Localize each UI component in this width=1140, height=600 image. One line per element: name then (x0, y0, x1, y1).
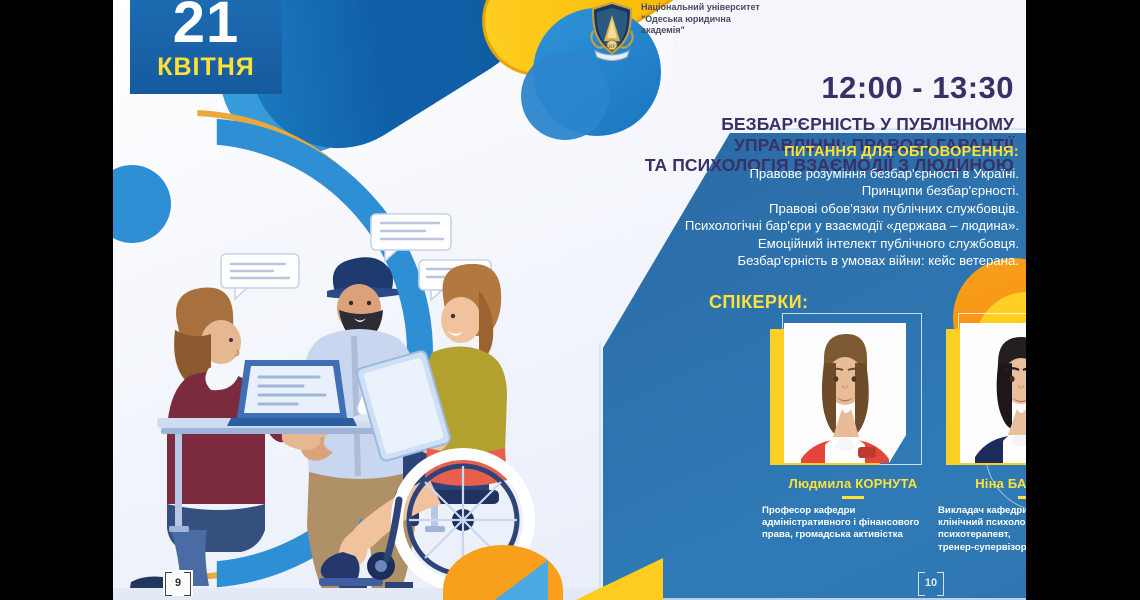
inclusive-meeting-illustration (113, 190, 673, 600)
date-day: 21 (130, 0, 282, 52)
speaker-bio: Викладач кафедри психології, клінічний п… (934, 505, 1026, 555)
page-bracket-icon (165, 572, 191, 594)
speaker-name: Людмила КОРНУТА (758, 476, 948, 491)
date-month: КВІТНЯ (130, 52, 282, 82)
presentation-slide: 21 КВІТНЯ НУ (113, 0, 1026, 600)
speaker-name: Ніна БАКУРІДЗЕ (934, 476, 1026, 491)
speakers-heading: СПІКЕРКИ: (709, 292, 808, 313)
page-bracket-icon (918, 572, 944, 594)
university-name: Національний університет "Одеська юридич… (641, 1, 760, 37)
speaker-card: Людмила КОРНУТА Професор кафедри адмініс… (758, 320, 948, 542)
page-number-right: 10 (916, 570, 946, 596)
speaker-photo-frame (758, 320, 948, 472)
discussion-questions: ПИТАННЯ ДЛЯ ОБГОВОРЕННЯ: Правове розумін… (613, 144, 1026, 269)
speaker-portrait-icon (784, 323, 906, 463)
page-number-left: 9 (163, 570, 193, 596)
speaker-name-divider (842, 496, 864, 499)
event-time: 12:00 - 13:30 (583, 70, 1026, 106)
letterbox-bar-right (1026, 0, 1140, 600)
university-identity: НУ Національний університет "Одеська юри… (583, 0, 1026, 68)
speaker-portrait-icon (960, 323, 1026, 463)
letterbox-bar-left (0, 0, 113, 600)
speaker-card: Ніна БАКУРІДЗЕ Викладач кафедри психолог… (934, 320, 1026, 554)
discussion-questions-heading: ПИТАННЯ ДЛЯ ОБГОВОРЕННЯ: (613, 144, 1019, 160)
speaker-bio: Професор кафедри адміністративного і фін… (758, 505, 948, 542)
svg-text:НУ: НУ (608, 45, 616, 50)
speaker-name-divider (1018, 496, 1026, 499)
speaker-photo-frame (934, 320, 1026, 472)
university-coat-of-arms-icon: НУ (589, 1, 635, 68)
date-badge: 21 КВІТНЯ (130, 0, 282, 94)
slide-viewer: 21 КВІТНЯ НУ (0, 0, 1140, 600)
discussion-questions-list: Правове розуміння безбар'єрності в Украї… (613, 165, 1019, 269)
